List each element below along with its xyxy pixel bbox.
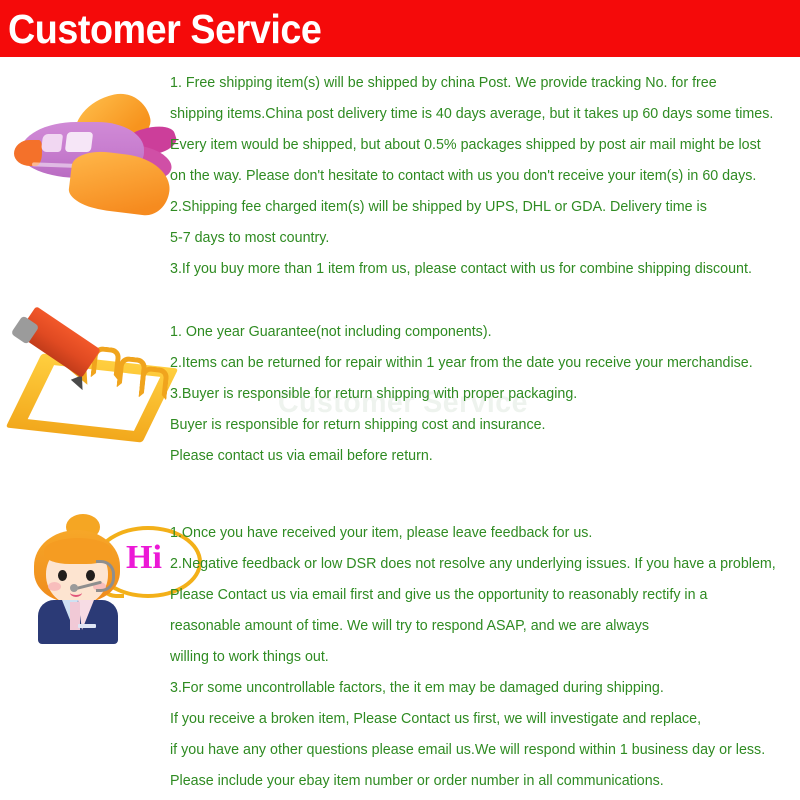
airplane-cockpit-window [41, 134, 63, 152]
headset-microphone-tip [70, 584, 78, 592]
text-line: 1. One year Guarantee(not including comp… [170, 317, 791, 348]
text-line: 2.Items can be returned for repair withi… [170, 348, 791, 379]
text-line: Please Contact us via email first and gi… [170, 580, 791, 611]
text-line: willing to work things out. [170, 642, 791, 673]
girl-eye-left [58, 570, 67, 581]
warranty-returns-text: 1. One year Guarantee(not including comp… [170, 317, 800, 472]
text-line: 5-7 days to most country. [170, 223, 791, 254]
page-title: Customer Service [8, 4, 321, 54]
text-line: shipping items.China post delivery time … [170, 99, 791, 130]
text-line: 2.Shipping fee charged item(s) will be s… [170, 192, 791, 223]
girl-cheek-left [48, 582, 61, 591]
text-line: 3.For some uncontrollable factors, the i… [170, 673, 791, 704]
text-line: Every item would be shipped, but about 0… [170, 130, 791, 161]
text-line: reasonable amount of time. We will try t… [170, 611, 791, 642]
text-line: Please contact us via email before retur… [170, 441, 791, 472]
notepad-spiral-ring [138, 366, 169, 401]
speech-bubble-text: Hi [112, 538, 176, 578]
girl-eye-right [86, 570, 95, 581]
text-line: Please include your ebay item number or … [170, 766, 791, 797]
girl-name-badge [78, 624, 96, 628]
feedback-contact-text: 1.Once you have received your item, plea… [170, 518, 800, 797]
shipping-policy-text: 1. Free shipping item(s) will be shipped… [170, 68, 800, 285]
text-line: if you have any other questions please e… [170, 735, 791, 766]
text-line: 1. Free shipping item(s) will be shipped… [170, 68, 791, 99]
airplane-cabin-window [65, 132, 93, 152]
text-line: 3.Buyer is responsible for return shippi… [170, 379, 791, 410]
text-line: Buyer is responsible for return shipping… [170, 410, 791, 441]
text-line: 1.Once you have received your item, plea… [170, 518, 791, 549]
text-line: If you receive a broken item, Please Con… [170, 704, 791, 735]
page-header-banner: Customer Service [0, 0, 800, 57]
text-line: 2.Negative feedback or low DSR does not … [170, 549, 791, 580]
text-line: on the way. Please don't hesitate to con… [170, 161, 791, 192]
text-line: 3.If you buy more than 1 item from us, p… [170, 254, 791, 285]
